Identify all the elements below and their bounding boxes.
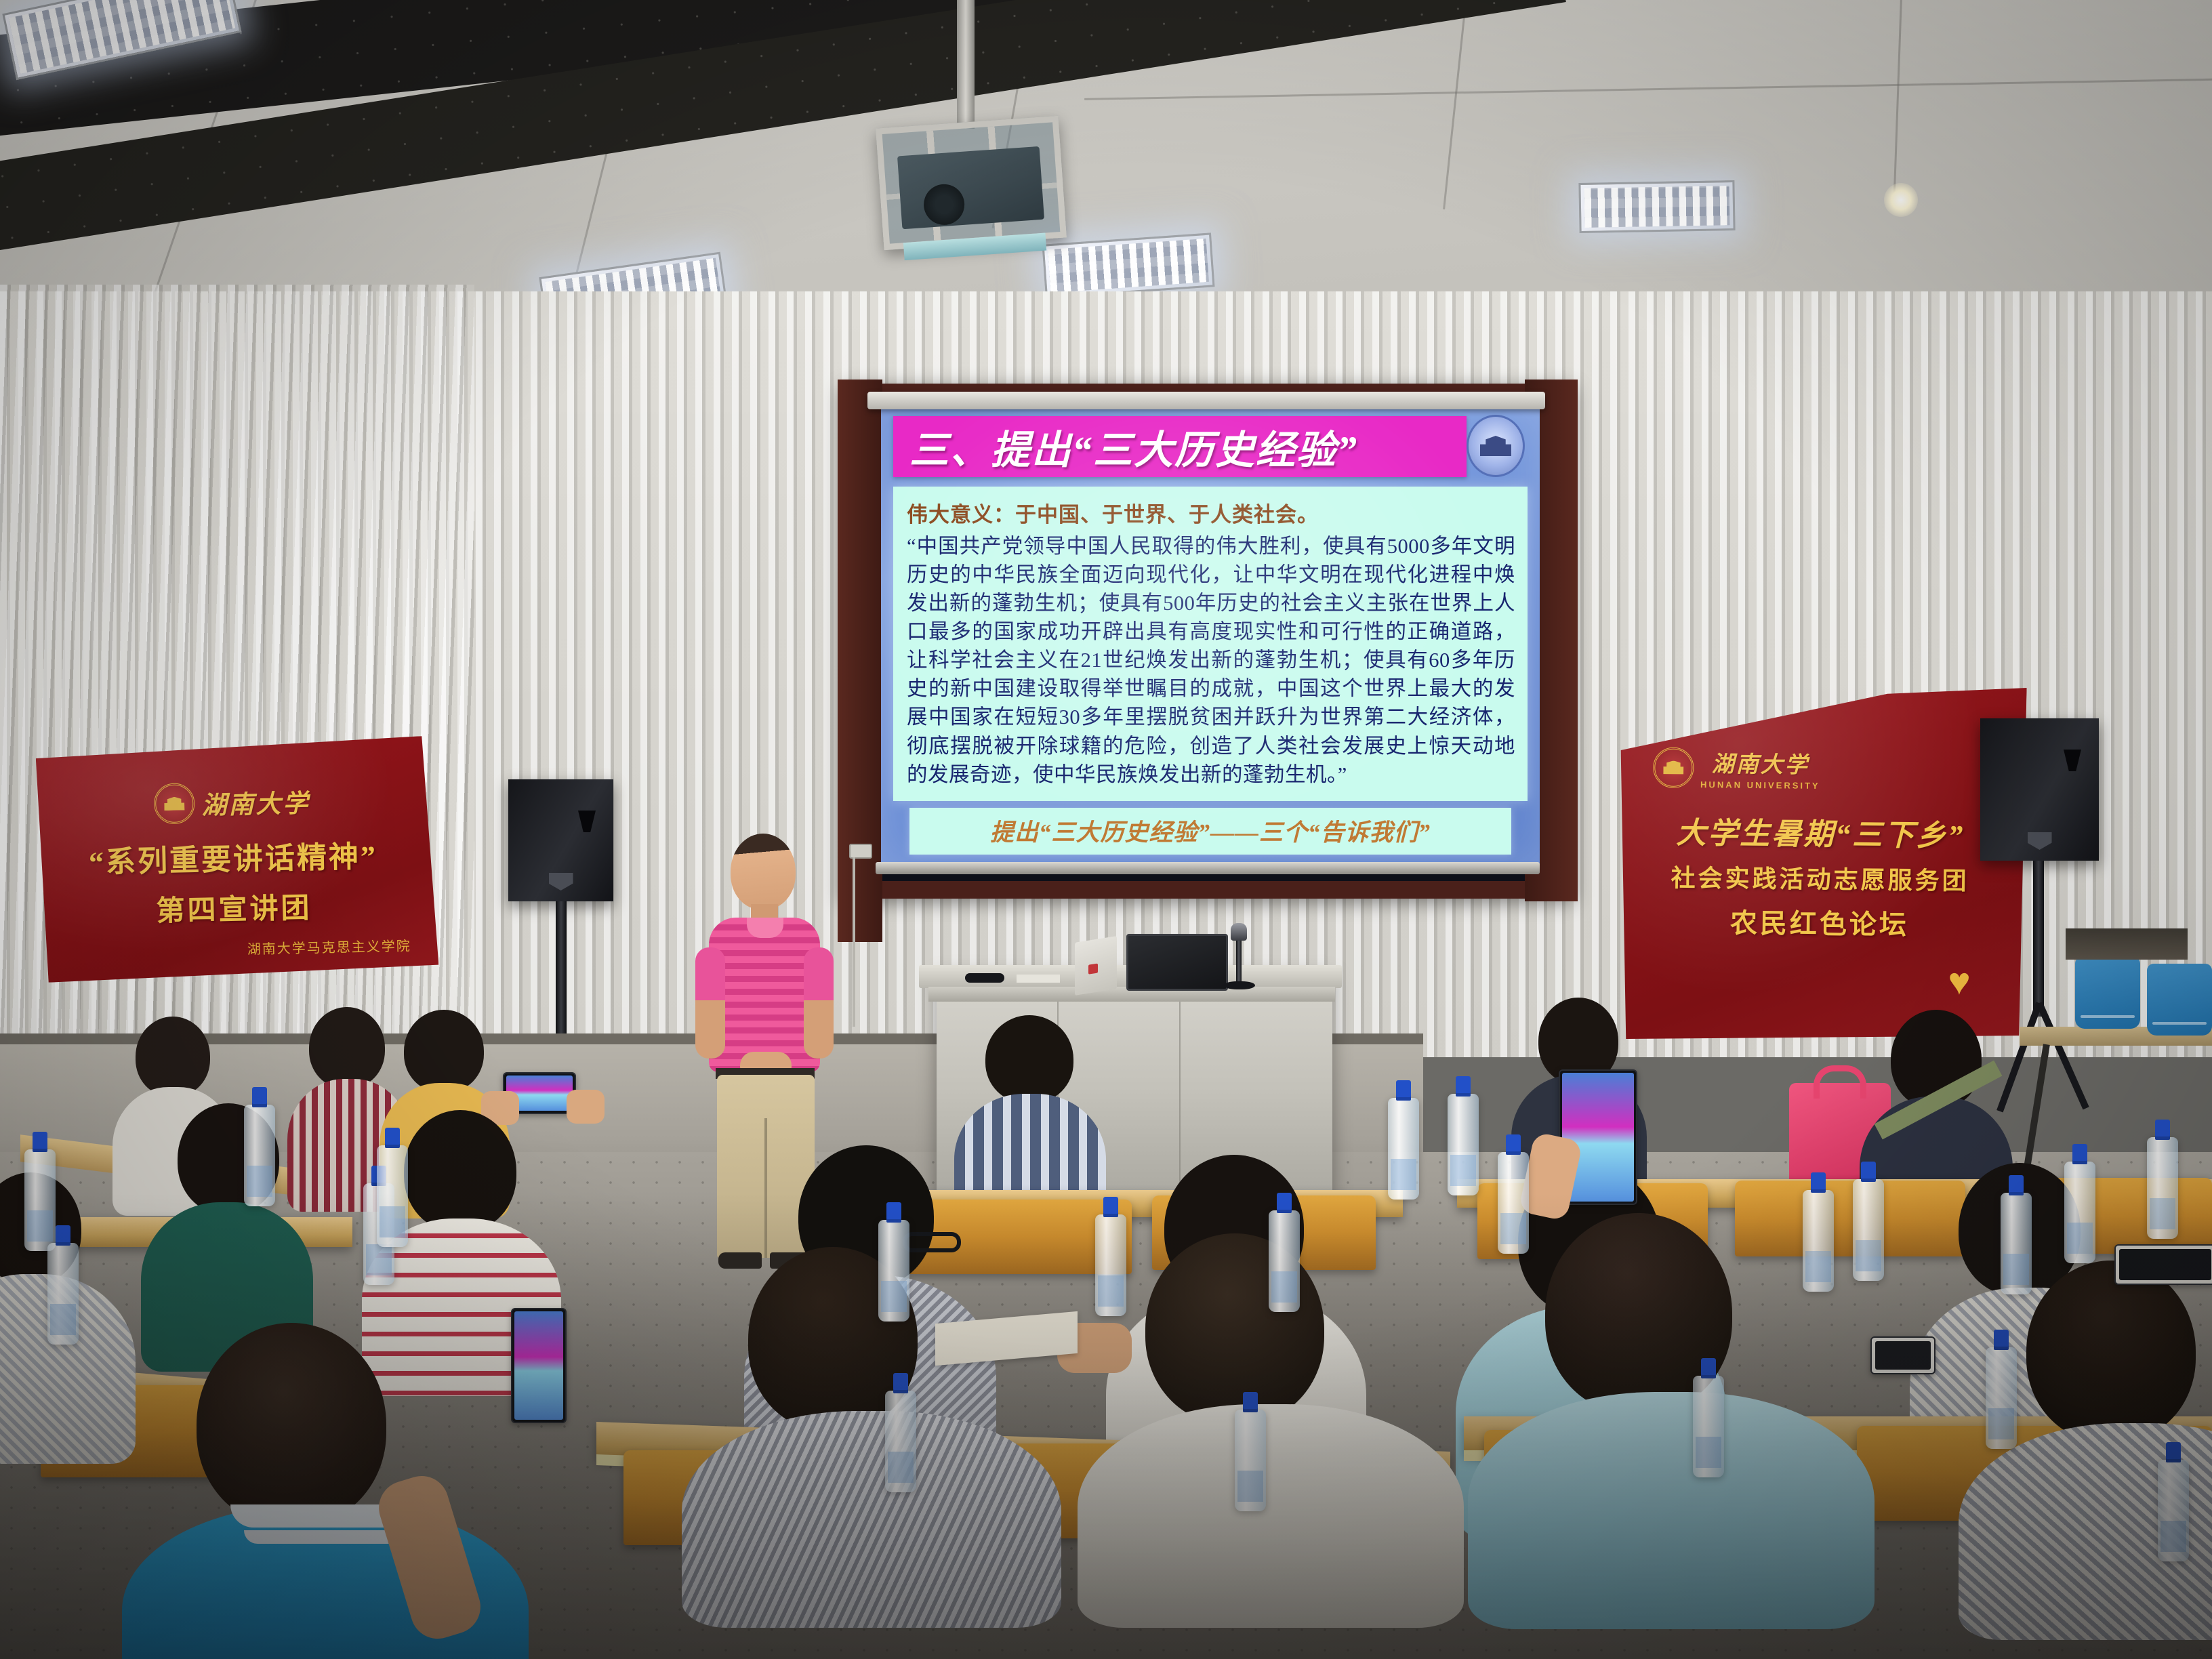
lecture-hall-photo: 三、提出“三大历史经验” 伟大意义：于中国、于世界、于人类社会。 “中国共产党领… bbox=[0, 0, 2212, 1659]
hunan-university-seal-icon bbox=[154, 783, 195, 824]
university-seal-icon bbox=[1467, 415, 1525, 477]
heart-hand-icon: ♥ bbox=[1937, 962, 1982, 1004]
banner-right-university-en: HUNAN UNIVERSITY bbox=[1700, 779, 1820, 791]
water-bottle[interactable] bbox=[878, 1220, 909, 1322]
water-bottle[interactable] bbox=[2158, 1460, 2189, 1561]
slide-lead-text: 伟大意义：于中国、于世界、于人类社会。 bbox=[907, 497, 1515, 528]
microphone-base bbox=[1224, 981, 1255, 989]
speaker-stand-pole-right bbox=[2033, 861, 2044, 1017]
projector-protective-cage bbox=[876, 116, 1067, 250]
water-bottle[interactable] bbox=[244, 1105, 275, 1206]
water-bottle[interactable] bbox=[1853, 1179, 1884, 1281]
lectern-panel-seam bbox=[1179, 996, 1181, 1193]
water-bottle[interactable] bbox=[2147, 1137, 2178, 1239]
hunan-university-seal-icon bbox=[1653, 747, 1694, 788]
banner-left-line1: “系列重要讲话精神” bbox=[29, 831, 436, 883]
water-bottle[interactable] bbox=[1095, 1214, 1126, 1316]
banner-right-university: 湖南大学 bbox=[1700, 745, 1820, 779]
head bbox=[309, 1007, 385, 1088]
water-bottle[interactable] bbox=[1693, 1376, 1724, 1477]
speaker-brand-badge bbox=[549, 873, 573, 890]
control-monitor[interactable] bbox=[1126, 934, 1228, 991]
projector-lens bbox=[922, 183, 966, 226]
head bbox=[404, 1110, 516, 1232]
water-cooler-bottle bbox=[2147, 964, 2212, 1036]
chair-back[interactable] bbox=[1735, 1181, 1965, 1256]
slide-footer-band: 提出“三大历史经验”——三个“告诉我们” bbox=[909, 808, 1511, 855]
speaker-port bbox=[578, 811, 596, 832]
pa-speaker-right bbox=[1980, 718, 2099, 861]
water-bottle[interactable] bbox=[1986, 1347, 2017, 1449]
torso bbox=[1468, 1392, 1875, 1629]
recessed-downlight bbox=[1884, 183, 1918, 217]
banner-right-line2: 社会实践活动志愿服务团 bbox=[1615, 858, 2025, 897]
slide-title: 三、提出“三大历史经验” bbox=[909, 418, 1358, 475]
water-bottle[interactable] bbox=[1269, 1210, 1300, 1312]
projector-mount-pole bbox=[957, 0, 975, 129]
water-bottle[interactable] bbox=[2064, 1162, 2095, 1263]
phone-on-desk[interactable] bbox=[1870, 1336, 1935, 1374]
head bbox=[985, 1015, 1073, 1103]
wall-cable bbox=[853, 857, 855, 1027]
water-bottle[interactable] bbox=[2001, 1193, 2032, 1294]
banner-left-line2: 第四宣讲团 bbox=[30, 882, 438, 933]
water-bottle[interactable] bbox=[1448, 1094, 1479, 1195]
presenter-head bbox=[731, 834, 796, 909]
presenter-arm-left bbox=[695, 947, 725, 1059]
speaker-brand-badge bbox=[2028, 832, 2052, 850]
head bbox=[2026, 1261, 2196, 1442]
slide-body-text: “中国共产党领导中国人民取得的伟大胜利，使具有5000多年文明历史的中华民族全面… bbox=[907, 532, 1515, 789]
microphone-icon bbox=[1231, 923, 1247, 941]
slide-footer-text: 提出“三大历史经验”——三个“告诉我们” bbox=[990, 819, 1431, 846]
eyeglasses-icon bbox=[903, 1232, 961, 1252]
head bbox=[404, 1010, 484, 1092]
screen-bottom-bar bbox=[876, 862, 1540, 874]
wall-socket bbox=[849, 844, 872, 859]
presenter-arm-right bbox=[804, 947, 834, 1059]
slide-title-band: 三、提出“三大历史经验” bbox=[893, 416, 1467, 477]
banner-left-university: 湖南大学 bbox=[201, 783, 310, 821]
banner-left: 湖南大学 “系列重要讲话精神” 第四宣讲团 湖南大学马克思主义学院 bbox=[27, 736, 438, 983]
recessed-grid-fluorescent-light bbox=[1578, 180, 1735, 233]
water-bottle[interactable] bbox=[47, 1243, 79, 1345]
banner-left-subtitle: 湖南大学马克思主义学院 bbox=[32, 935, 438, 963]
projector-body bbox=[897, 146, 1044, 229]
pa-speaker-left bbox=[508, 779, 613, 901]
presenter-trouser-seam bbox=[764, 1118, 767, 1258]
water-bottle[interactable] bbox=[1235, 1410, 1266, 1511]
water-bottle[interactable] bbox=[1498, 1152, 1529, 1254]
presenter-collar bbox=[747, 918, 783, 938]
screen-roller-casing bbox=[867, 392, 1545, 409]
cardboard-box bbox=[2066, 928, 2188, 960]
polo-collar-stripe bbox=[244, 1530, 401, 1544]
audience-hand bbox=[567, 1090, 605, 1124]
audience-phone-camera[interactable] bbox=[511, 1308, 567, 1423]
water-bottle[interactable] bbox=[1803, 1190, 1834, 1292]
presenter-shoe-left bbox=[718, 1252, 762, 1269]
projected-slide: 三、提出“三大历史经验” 伟大意义：于中国、于世界、于人类社会。 “中国共产党领… bbox=[881, 405, 1540, 863]
phone-on-desk[interactable] bbox=[2114, 1244, 2212, 1285]
presenter-remote[interactable] bbox=[965, 973, 1004, 983]
water-bottle[interactable] bbox=[885, 1391, 916, 1492]
banner-right-line1: 大学生暑期“三下乡” bbox=[1616, 808, 2026, 855]
torso bbox=[1078, 1404, 1464, 1628]
water-bottle[interactable] bbox=[24, 1149, 56, 1251]
water-bottle[interactable] bbox=[377, 1145, 408, 1247]
slide-body-panel: 伟大意义：于中国、于世界、于人类社会。 “中国共产党领导中国人民取得的伟大胜利，… bbox=[893, 487, 1528, 801]
speaker-port bbox=[2064, 750, 2081, 771]
water-cooler-bottle bbox=[2075, 957, 2140, 1029]
laptop-lid[interactable] bbox=[1075, 936, 1117, 996]
head bbox=[197, 1323, 386, 1526]
torso bbox=[682, 1411, 1061, 1628]
head bbox=[136, 1017, 210, 1097]
water-bottle[interactable] bbox=[1388, 1098, 1419, 1200]
paper-note bbox=[1017, 975, 1060, 983]
banner-right-line3: 农民红色论坛 bbox=[1615, 900, 2025, 943]
